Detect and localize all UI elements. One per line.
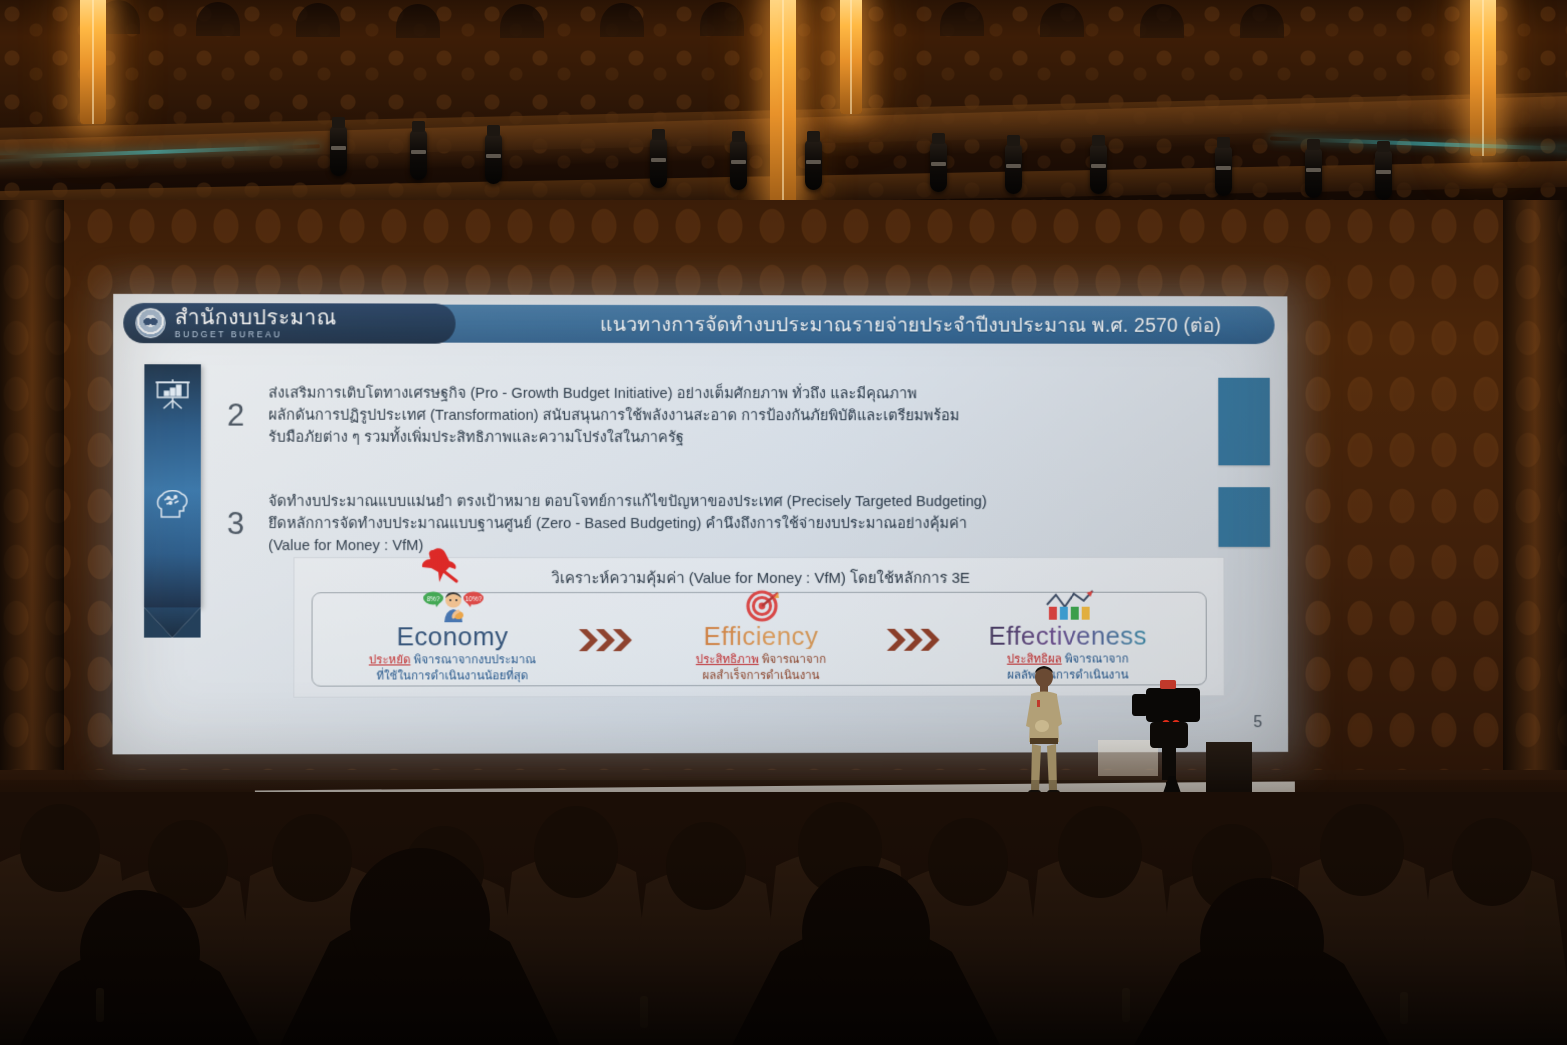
chandelier-light [840, 0, 862, 114]
stage-spotlight [1375, 150, 1392, 200]
slide-header: แนวทางการจัดทำงบประมาณรายจ่ายประจำปีงบปร… [123, 303, 1274, 345]
item2-line3: รับมือภัยต่าง ๆ รวมทั้งเพิ่มประสิทธิภาพแ… [268, 427, 1276, 450]
stage-spotlight [1090, 144, 1107, 194]
chandelier-light [770, 0, 796, 212]
chandelier-light [1470, 0, 1496, 156]
stage-spotlight [805, 140, 822, 190]
accent-block-lower [1218, 487, 1270, 547]
stage-spotlight [930, 142, 947, 192]
budget-bureau-logo: สำนักงบประมาณ BUDGET BUREAU [123, 303, 455, 344]
target-dart-icon [745, 589, 781, 623]
stage-spotlight [1305, 148, 1322, 198]
vfm-3e-container: 8%? 10%? Economy [311, 592, 1206, 687]
slide-title-bar: แนวทางการจัดทำงบประมาณรายจ่ายประจำปีงบปร… [425, 305, 1274, 344]
efficiency-desc-line2: ผลสำเร็จการดำเนินงาน [702, 670, 819, 682]
ceiling-area [0, 0, 1567, 205]
item-number-2: 2 [227, 397, 244, 433]
stage-spotlight [730, 140, 747, 190]
brain-head-icon [153, 487, 191, 519]
budget-bureau-seal-icon [135, 308, 165, 338]
economy-desc-line1: พิจารณาจากงบประมาณ [411, 654, 536, 666]
slide-title: แนวทางการจัดทำงบประมาณรายจ่ายประจำปีงบปร… [480, 308, 1222, 340]
economy-desc-line2: ที่ใช้ในการดำเนินงานน้อยที่สุด [376, 671, 528, 683]
stage-spotlight [650, 138, 667, 188]
triple-chevron-right-icon [887, 627, 943, 653]
3e-column-efficiency: Efficiency ประสิทธิภาพ พิจารณาจาก ผลสำเร… [636, 593, 886, 685]
efficiency-keyword: ประสิทธิภาพ [696, 654, 759, 666]
stage-spotlight [1005, 144, 1022, 194]
stage-spotlight [1215, 146, 1232, 196]
effectiveness-desc-line1: พิจารณาจาก [1062, 654, 1129, 666]
audience-seating [0, 792, 1567, 1045]
presentation-chart-icon [153, 378, 191, 410]
stage-spotlight [410, 130, 427, 180]
vfm-panel: วิเคราะห์ความคุ้มค่า (Value for Money : … [293, 557, 1224, 698]
chandelier-light [80, 0, 106, 124]
effectiveness-heading: Effectiveness [944, 623, 1192, 649]
logo-english-text: BUDGET BUREAU [175, 330, 337, 339]
wall-pillar [1503, 200, 1567, 800]
efficiency-heading: Efficiency [636, 623, 886, 649]
wall-pillar [0, 200, 64, 800]
accent-block-upper [1218, 378, 1270, 466]
logo-thai-text: สำนักงบประมาณ [175, 307, 337, 328]
stage-spotlight [330, 126, 347, 176]
item-number-3: 3 [227, 506, 244, 542]
item2-line1: ส่งเสริมการเติบโตทางเศรษฐกิจ (Pro - Grow… [268, 382, 1276, 405]
red-pushpin-icon [419, 546, 465, 586]
item3-line2: ยึดหลักการจัดทำงบประมาณแบบฐานศูนย์ (Zero… [268, 513, 1277, 535]
slide-page-number: 5 [1254, 714, 1263, 732]
svg-text:8%?: 8%? [427, 596, 440, 603]
triple-chevron-right-icon [579, 627, 635, 653]
efficiency-desc-line1: พิจารณาจาก [759, 654, 826, 666]
conference-room-photo: แนวทางการจัดทำงบประมาณรายจ่ายประจำปีงบปร… [0, 0, 1567, 1045]
item2-line2: ผลักดันการปฏิรูปประเทศ (Transformation) … [268, 405, 1276, 428]
item3-line1: จัดทำงบประมาณแบบแม่นยำ ตรงเป้าหมาย ตอบโจ… [268, 491, 1277, 513]
economy-heading: Economy [327, 623, 578, 649]
3e-column-economy: 8%? 10%? Economy [327, 593, 578, 686]
person-thinking-price-icon: 8%? 10%? [422, 591, 484, 623]
stage-spotlight [485, 134, 502, 184]
svg-text:10%?: 10%? [465, 596, 482, 603]
bar-chart-growth-icon [1043, 589, 1097, 623]
economy-keyword: ประหยัด [369, 654, 411, 666]
